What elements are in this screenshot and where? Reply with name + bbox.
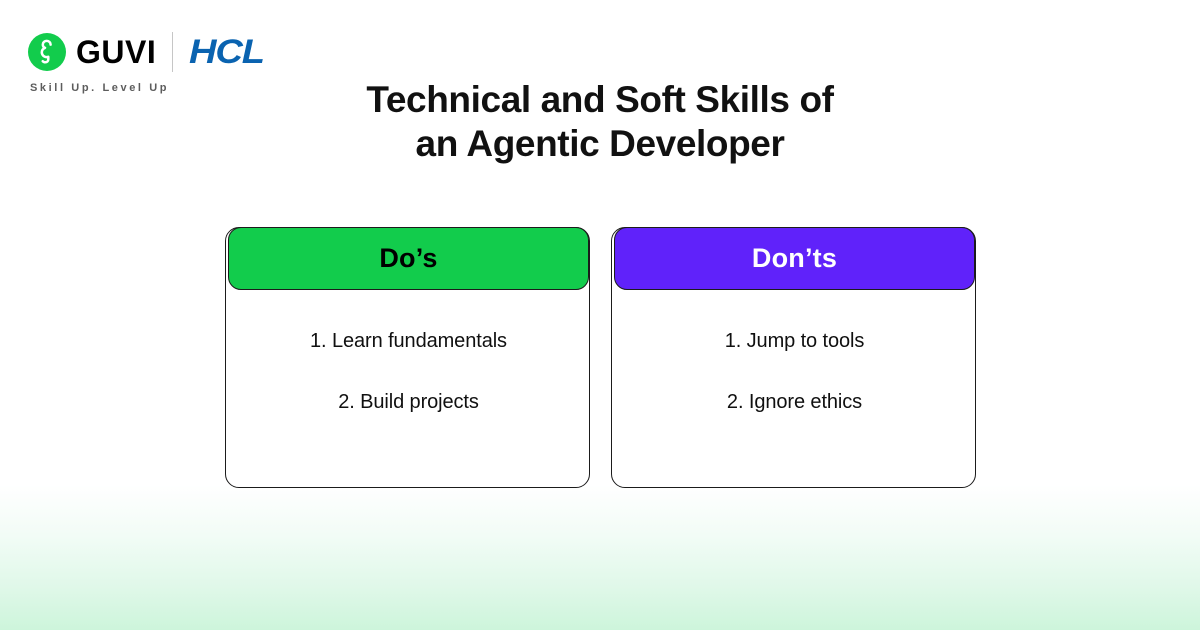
page-title: Technical and Soft Skills of an Agentic … [0,78,1200,165]
slide-canvas: GUVI HCL Skill Up. Level Up Technical an… [0,0,1200,630]
guvi-logo-icon [28,33,66,71]
card-donts-header: Don’ts [614,227,975,290]
list-item: 1. Learn fundamentals [226,329,591,353]
guvi-wordmark: GUVI [76,36,156,68]
cards-container: Do’s 1. Learn fundamentals 2. Build proj… [225,227,976,488]
card-donts-body: 1. Jump to tools 2. Ignore ethics [612,291,977,414]
list-item: 1. Jump to tools [612,329,977,353]
page-title-line-1: Technical and Soft Skills of [0,78,1200,122]
card-dos-body: 1. Learn fundamentals 2. Build projects [226,291,591,414]
card-donts-header-label: Don’ts [752,243,837,274]
brand-row: GUVI HCL [28,30,256,74]
list-item: 2. Ignore ethics [612,390,977,414]
hcl-wordmark: HCL [189,35,264,69]
brand-divider [172,32,173,72]
card-dos: Do’s 1. Learn fundamentals 2. Build proj… [225,227,590,488]
page-title-line-2: an Agentic Developer [0,122,1200,166]
card-donts: Don’ts 1. Jump to tools 2. Ignore ethics [611,227,976,488]
card-dos-header: Do’s [228,227,589,290]
list-item: 2. Build projects [226,390,591,414]
card-dos-header-label: Do’s [379,243,437,274]
